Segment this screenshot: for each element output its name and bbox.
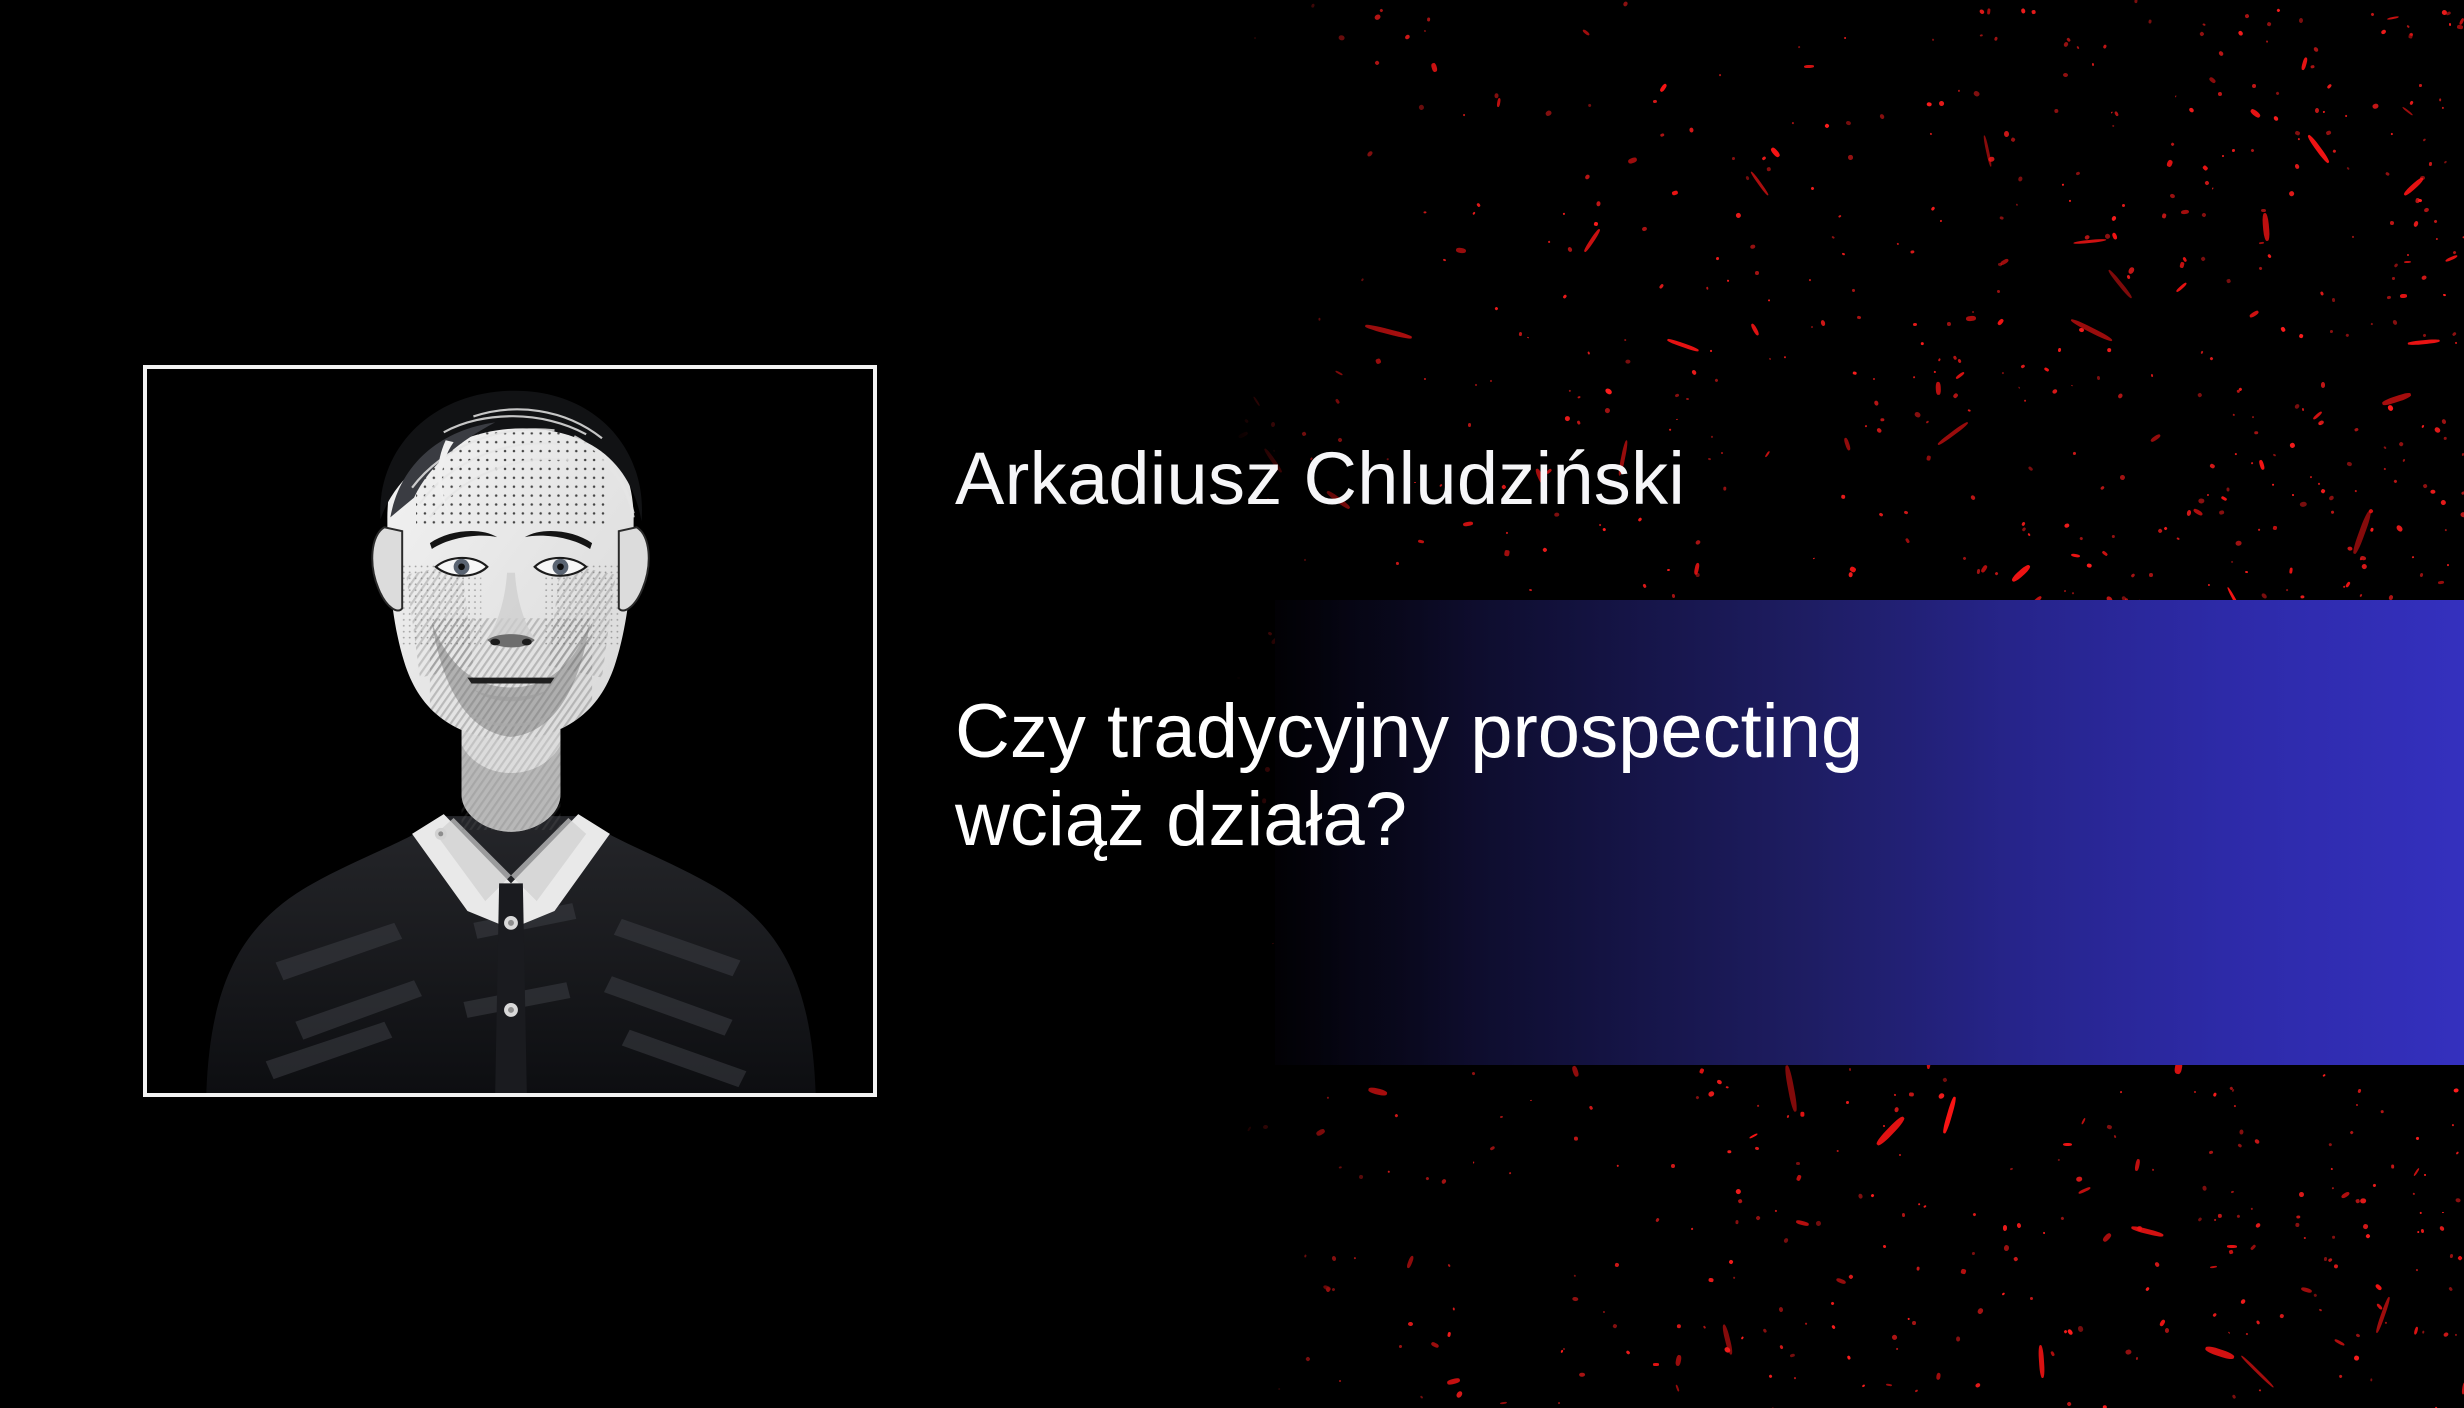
speaker-portrait-illustration [147,369,873,1093]
speaker-name: Arkadiusz Chludziński [955,440,2285,518]
headline-line-1: Czy tradycyjny prospecting [955,688,2015,776]
slide-text-block: Arkadiusz Chludziński Czy tradycyjny pro… [955,440,2285,864]
headline-line-2: wciąż działa? [955,776,2015,864]
speaker-portrait-frame [143,365,877,1097]
presentation-slide: Arkadiusz Chludziński Czy tradycyjny pro… [0,0,2464,1408]
slide-headline: Czy tradycyjny prospecting wciąż działa? [955,688,2015,864]
